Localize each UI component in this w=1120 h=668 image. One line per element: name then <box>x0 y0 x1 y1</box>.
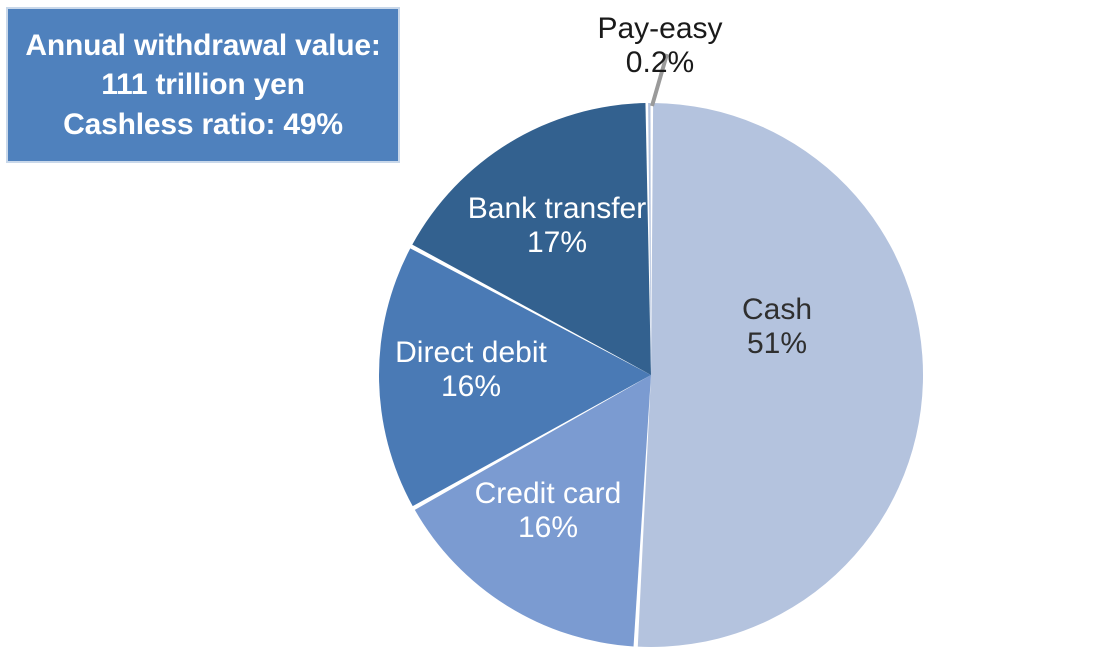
slice-label-pay-easy-value: 0.2% <box>597 46 722 80</box>
slice-label-direct-debit: Direct debit 16% <box>395 336 547 403</box>
slice-label-direct-debit-value: 16% <box>395 370 547 404</box>
slice-label-direct-debit-name: Direct debit <box>395 336 547 370</box>
slice-label-cash: Cash 51% <box>742 293 812 360</box>
callout-line-3: Cashless ratio: 49% <box>63 105 343 145</box>
slice-label-cash-value: 51% <box>742 327 812 361</box>
callout-line-1: Annual withdrawal value: <box>25 26 380 66</box>
annual-withdrawal-callout: Annual withdrawal value: 111 trillion ye… <box>6 7 400 163</box>
pie-slice-cash <box>638 103 923 647</box>
callout-line-2: 111 trillion yen <box>101 65 305 105</box>
slice-label-pay-easy: Pay-easy 0.2% <box>597 12 722 79</box>
slice-label-bank-transfer: Bank transfer 17% <box>468 192 646 259</box>
slice-label-bank-transfer-value: 17% <box>468 226 646 260</box>
slice-label-bank-transfer-name: Bank transfer <box>468 192 646 226</box>
slice-label-credit-card-name: Credit card <box>475 477 622 511</box>
slice-label-credit-card: Credit card 16% <box>475 477 622 544</box>
slice-label-cash-name: Cash <box>742 293 812 327</box>
slice-label-credit-card-value: 16% <box>475 511 622 545</box>
slice-label-pay-easy-name: Pay-easy <box>597 12 722 46</box>
